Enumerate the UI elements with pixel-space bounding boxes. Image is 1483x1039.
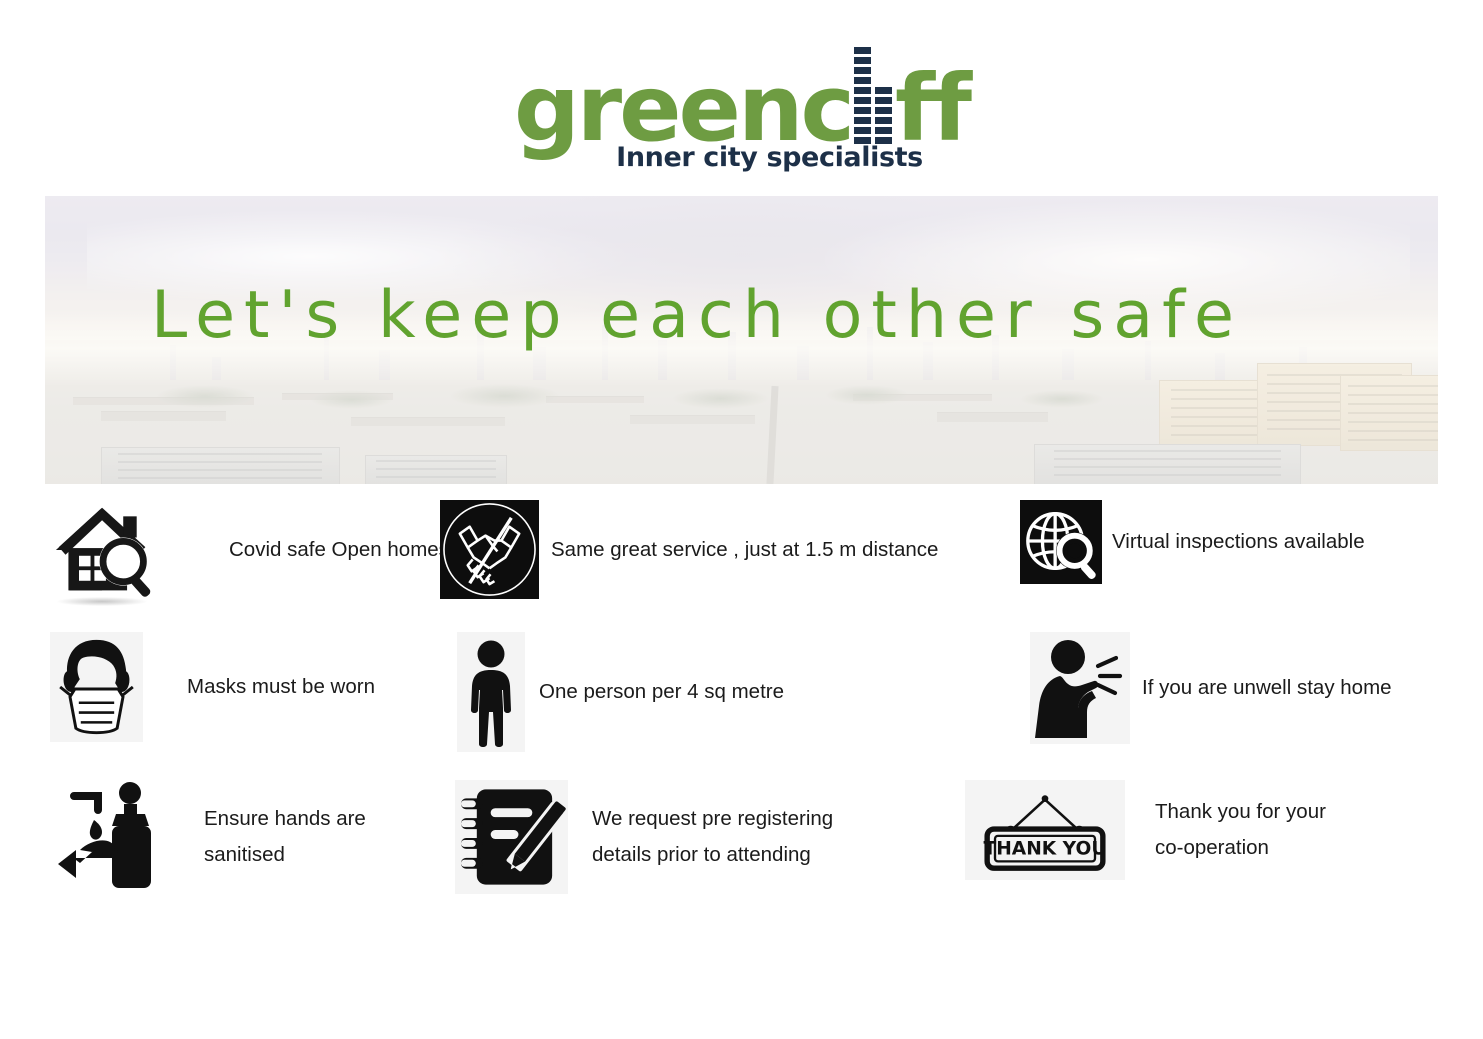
coughing-person-icon: [1030, 632, 1130, 744]
feature-if-unwell-stay-home: If you are unwell stay home: [1030, 632, 1392, 744]
feature-label: Ensure hands are sanitised: [204, 801, 366, 873]
logo-building-icon: [854, 40, 892, 144]
notepad-pencil-icon: [455, 780, 568, 894]
no-handshake-icon: [440, 500, 539, 599]
hero-banner: Let's keep each other safe: [45, 196, 1438, 484]
feature-one-person-per-4sqm: One person per 4 sq metre: [457, 632, 784, 752]
feature-label: Thank you for your co-operation: [1155, 794, 1326, 866]
thank-you-sign-text: THANK YOU: [984, 839, 1107, 860]
icon-shadow: [57, 597, 147, 606]
brand-logo: green c ff Inner city specialists: [0, 62, 1483, 187]
feature-label: Virtual inspections available: [1112, 524, 1365, 560]
banner-headline: Let's keep each other safe: [151, 278, 1243, 353]
globe-magnifier-icon: [1020, 500, 1102, 584]
feature-covid-safe-open-homes: Covid safe Open homes: [45, 500, 449, 600]
person-standing-icon: [457, 632, 525, 752]
safety-measures-grid: Covid safe Open homes: [45, 492, 1440, 932]
hand-sanitiser-icon: [50, 780, 168, 894]
feature-label: One person per 4 sq metre: [539, 674, 784, 710]
feature-same-great-service: Same great service , just at 1.5 m dista…: [440, 500, 938, 599]
house-magnifier-icon: [45, 500, 163, 600]
face-mask-icon: [50, 632, 143, 742]
logo-green-text: green: [514, 69, 801, 148]
feature-label: Masks must be worn: [187, 669, 375, 705]
feature-label: If you are unwell stay home: [1142, 670, 1392, 706]
feature-virtual-inspections: Virtual inspections available: [1020, 500, 1365, 584]
feature-masks-must-be-worn: Masks must be worn: [50, 632, 375, 742]
feature-label: Covid safe Open homes: [229, 532, 449, 568]
logo-wordmark: green c ff: [514, 62, 969, 148]
feature-label: Same great service , just at 1.5 m dista…: [551, 532, 938, 568]
feature-thank-you-cooperation: THANK YOU Thank you for your co-operatio…: [965, 780, 1326, 880]
logo-letter-c: c: [800, 69, 852, 148]
feature-pre-registering-details: We request pre registering details prior…: [455, 780, 833, 894]
feature-ensure-hands-sanitised: Ensure hands are sanitised: [50, 780, 366, 894]
feature-label: We request pre registering details prior…: [592, 801, 833, 873]
logo-ff-text: ff: [895, 69, 969, 148]
thank-you-sign-icon: THANK YOU: [965, 780, 1125, 880]
